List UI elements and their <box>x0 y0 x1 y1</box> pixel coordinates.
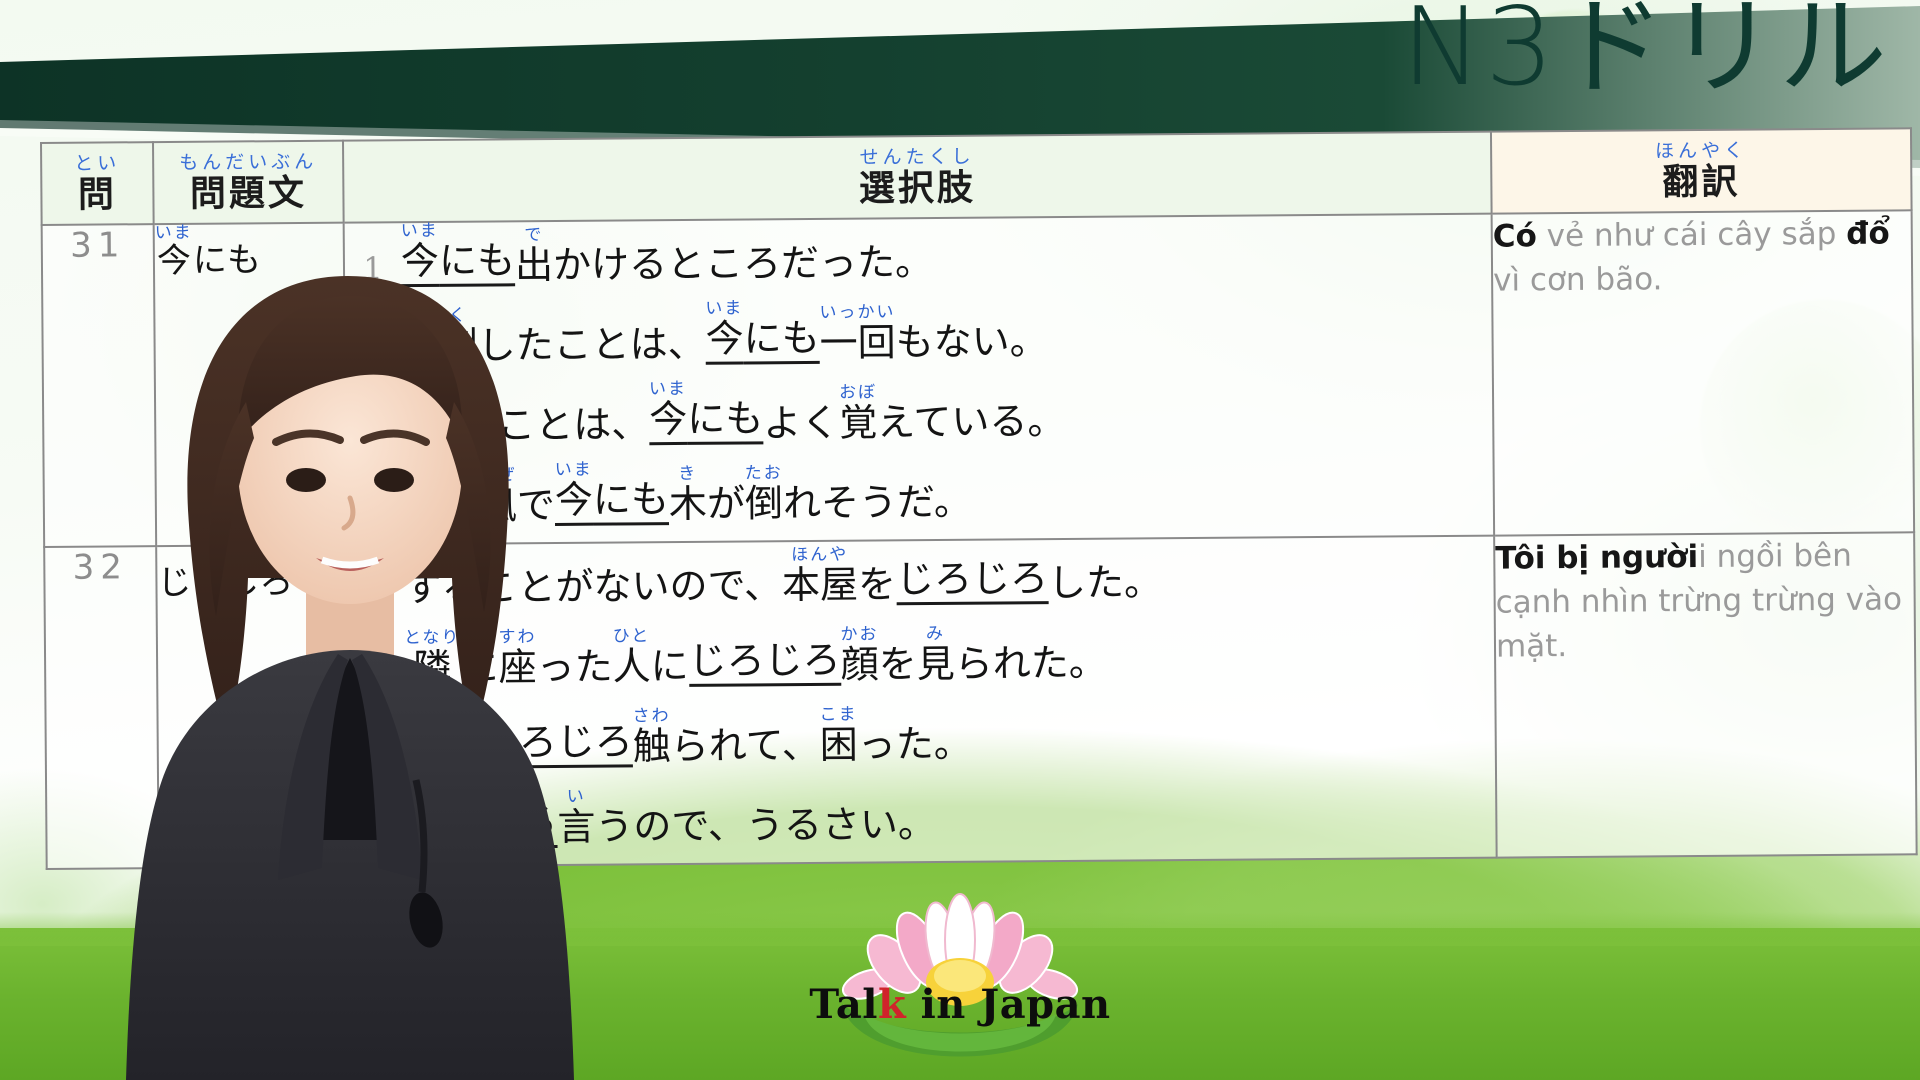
ruby-group: ひと人 <box>612 628 650 687</box>
plain-text-group: よく <box>763 385 839 444</box>
logo-part-accent: k <box>878 981 906 1028</box>
kanji-text: 木 <box>669 484 707 524</box>
ruby-group: かお顔 <box>840 626 878 685</box>
brand-logo-text: Talk in Japan <box>750 981 1170 1028</box>
ruby-group: かぜ風 <box>479 467 517 526</box>
brand-logo: Talk in Japan <box>750 882 1170 1072</box>
plain-text-group: にも <box>193 224 261 279</box>
kanji-text: のことは、 <box>459 405 649 446</box>
plain-text-group: い <box>441 467 479 526</box>
ruby-group: き木 <box>669 465 707 524</box>
plain-text-group: のことは、 <box>459 386 649 446</box>
header-label: 問題文 <box>190 175 307 212</box>
plain-text-group: を <box>442 709 480 768</box>
choice-line: 2となり隣にすわ座ったひと人にじろじろかお顔をみ見られた。 <box>348 616 1494 689</box>
kanji-text: 遅刻 <box>401 326 477 366</box>
header-choices: せんたくし 選択肢 <box>343 132 1492 223</box>
kanji-text: 強 <box>403 487 441 527</box>
choice-number: 3 <box>349 736 405 769</box>
kanji-text: 服 <box>405 729 443 769</box>
kanji-text: 触 <box>633 727 671 767</box>
logo-part-1: Tal <box>809 981 878 1028</box>
ruby-group: ほんや本屋 <box>782 547 858 606</box>
choice-number: 3 <box>346 414 402 447</box>
kanji-text: 今 <box>649 400 687 440</box>
kanji-text: られた。 <box>955 644 1107 685</box>
drill-table: とい 問 もんだいぶん 問題文 せんたくし 選択肢 <box>40 127 1918 869</box>
kana-text: にも <box>193 243 261 279</box>
choice-list-32: 1することがないので、ほんや本屋をじろじろした。2となり隣にすわ座ったひと人にじ… <box>347 537 1495 850</box>
plain-text-group: で <box>517 467 555 526</box>
ruby-group: ふく服 <box>404 710 442 769</box>
drill-table-wrapper: とい 問 もんだいぶん 問題文 せんたくし 選択肢 <box>40 127 1916 869</box>
kanji-text: 本屋 <box>782 566 858 606</box>
plain-text-group: かけるところだった。 <box>553 224 933 286</box>
ruby-group: いっかい一回 <box>819 304 895 363</box>
question-stem: じろじろ <box>156 545 349 868</box>
ruby-group: で出 <box>515 227 553 286</box>
plain-text-group: した。 <box>1048 544 1162 604</box>
ruby-group: い言 <box>557 788 595 847</box>
plain-text-group: った。 <box>858 705 972 765</box>
choice-line: 3むかし昔のことは、いま今にもよくおぼ覚えている。 <box>346 374 1492 447</box>
translation-text: Có vẻ như cái cây sắp đổ vì cơn bão. <box>1493 211 1912 302</box>
kanji-text: もない。 <box>896 322 1048 363</box>
translation-bold-prefix: Có <box>1493 218 1537 254</box>
translation-bold-mid: đổ <box>1846 215 1890 251</box>
question-number: 32 <box>44 546 159 868</box>
ruby-group: み見 <box>916 626 954 685</box>
choice-line: 2ちこく遅刻したことは、いま今にもいっかい一回もない。 <box>345 294 1491 367</box>
plain-text-group: にも <box>687 380 764 444</box>
question-number: 31 <box>42 224 157 547</box>
kanji-text: にも <box>743 319 819 359</box>
choice-number: 2 <box>346 334 402 367</box>
furigana-text: とい <box>74 154 120 173</box>
kanji-text: 出 <box>515 246 553 286</box>
plain-text-group: にも <box>439 222 516 286</box>
kanji-text: い <box>441 486 479 526</box>
kanji-text: った。 <box>858 724 972 765</box>
translation-cell: Có vẻ như cái cây sắp đổ vì cơn bão. <box>1492 210 1915 535</box>
plain-text-group: じろじろ <box>157 546 293 602</box>
kanji-text: 今 <box>555 480 593 520</box>
choice-line: 3ふく服をじろじろさわ触られて、こま困った。 <box>348 696 1494 769</box>
ruby-group: いま今 <box>649 381 688 445</box>
translation-body: vẻ như cái cây sắp <box>1537 216 1847 254</box>
plain-text-group: られて、 <box>671 707 820 767</box>
kanji-text: うので、うるさい。 <box>595 805 936 848</box>
plain-text-group: った <box>536 628 612 687</box>
kanji-text: 今 <box>401 242 439 282</box>
video-frame: N3ドリル とい 問 もんだいぶん 問題文 <box>0 0 1920 1080</box>
kanji-text: に <box>651 647 689 687</box>
kanji-text: 今 <box>157 244 191 280</box>
ruby-group: さわ触 <box>633 708 671 767</box>
header-translation: ほんやく 翻訳 <box>1491 128 1912 213</box>
furigana-text: ほんやく <box>1655 142 1747 162</box>
furigana-text: せんたくし <box>860 148 975 168</box>
ruby-group: いま今 <box>705 300 744 364</box>
kanji-text: った <box>537 647 613 687</box>
kanji-text: する <box>403 569 479 609</box>
kanji-text: にも <box>439 241 515 281</box>
header-question-number: とい 問 <box>41 142 154 225</box>
kanji-text: が <box>707 484 745 524</box>
plain-text-group: に <box>460 629 498 688</box>
kanji-text: を <box>879 645 917 685</box>
kanji-text: えている。 <box>877 402 1065 443</box>
kanji-text: 困 <box>820 725 858 765</box>
kanji-text: られて、 <box>671 726 820 767</box>
ruby-group: おぼ覚 <box>839 384 877 443</box>
plain-text-group: うので、うるさい。 <box>595 786 936 848</box>
choice-number: 4 <box>347 494 403 527</box>
kanji-text: にも <box>687 399 763 439</box>
kanji-text: じろじろ <box>896 559 1048 600</box>
plain-text-group: じろじろ <box>688 622 841 687</box>
kanji-text: れそうだ。 <box>783 482 972 523</box>
kanji-text: したことは、 <box>477 325 705 367</box>
choice-number: 4 <box>349 816 405 849</box>
plain-text-group: したことは、 <box>477 306 705 367</box>
kanji-text: かけるところだった。 <box>553 243 933 286</box>
kanji-text: 風 <box>479 486 517 526</box>
ruby-group: となり隣 <box>404 630 461 689</box>
table-header-row: とい 問 もんだいぶん 問題文 せんたくし 選択肢 <box>41 128 1912 225</box>
kanji-text: 昔 <box>412 407 450 447</box>
kanji-text: にも <box>593 480 669 520</box>
translation-text: Tôi bị ngườii ngồi bên cạnh nhìn trừng t… <box>1495 533 1914 668</box>
translation-bold-prefix: Tôi bị người <box>1495 539 1698 577</box>
choice-number: 2 <box>348 656 404 689</box>
plain-text-group: に <box>650 628 688 687</box>
plain-text-group: にも <box>743 300 820 364</box>
page-title: N3ドリル <box>1401 0 1890 102</box>
header-question-text: もんだいぶん 問題文 <box>153 141 344 224</box>
kanji-text: よく <box>763 404 839 444</box>
plain-text-group: じろじろ <box>896 540 1049 605</box>
plain-text-group: にも <box>593 461 670 525</box>
kanji-text: 今 <box>705 319 743 359</box>
ruby-group: いま今 <box>401 223 440 287</box>
ruby-group: こま困 <box>819 706 857 765</box>
plain-text-group: もない。 <box>895 303 1047 363</box>
ruby-group: つよ強 <box>403 468 441 527</box>
choice-line: 1いま今にもで出かけるところだった。 <box>345 215 1491 288</box>
kanji-text: 倒 <box>745 484 783 524</box>
kanji-text: 覚 <box>839 403 877 443</box>
kanji-text: じろじろ <box>405 803 557 844</box>
kanji-text: 座 <box>499 648 537 688</box>
furigana-text: もんだいぶん <box>179 153 317 173</box>
logo-part-3: in Japan <box>906 981 1110 1028</box>
ruby-group: ちこく遅刻 <box>401 307 477 366</box>
kanji-text: 言 <box>557 807 595 847</box>
choices-cell: 1いま今にもで出かけるところだった。2ちこく遅刻したことは、いま今にもいっかい一… <box>344 214 1494 545</box>
plain-text-group: れそうだ。 <box>783 463 972 523</box>
kanji-text: 顔 <box>841 645 879 685</box>
plain-text-group: じろじろ <box>405 784 558 849</box>
plain-text-group: ことがないので、 <box>479 547 782 608</box>
choice-line: 1することがないので、ほんや本屋をじろじろした。 <box>347 537 1493 610</box>
choice-line: 4じろじろい言うので、うるさい。 <box>349 776 1495 849</box>
choices-cell: 1することがないので、ほんや本屋をじろじろした。2となり隣にすわ座ったひと人にじ… <box>346 536 1496 867</box>
plain-text-group: じろじろ <box>480 703 633 768</box>
header-label: 翻訳 <box>1662 164 1740 201</box>
ruby-group: むかし昔 <box>402 387 459 446</box>
plain-text-group: を <box>858 546 896 605</box>
plain-text-group: られた。 <box>954 625 1106 685</box>
kanji-text: 見 <box>917 645 955 685</box>
question-stem: いま 今 にも <box>154 223 347 546</box>
kanji-text: じろじろ <box>689 641 841 682</box>
table-row: 31 いま 今 にも <box>42 210 1914 547</box>
kanji-text: した。 <box>1048 563 1162 604</box>
translation-tail: vì cơn bão. <box>1493 261 1663 298</box>
kana-text: じろじろ <box>157 565 293 602</box>
kanji-text: で <box>517 486 555 526</box>
kanji-text: じろじろ <box>481 722 633 763</box>
ruby-group: たお倒 <box>745 465 783 524</box>
plain-text-group: する <box>403 550 479 609</box>
kanji-text: 隣 <box>413 649 451 689</box>
table-row: 32 じろじろ 1することがないので、ほんや本屋をじろじろした。2となり隣にすわ… <box>44 532 1916 868</box>
lotus-flower-icon <box>839 894 1080 1057</box>
kanji-text: を <box>443 728 481 768</box>
plain-text-group: を <box>878 626 916 685</box>
ruby-group: いま 今 <box>155 225 193 280</box>
choice-number: 1 <box>345 254 401 287</box>
header-label: 選択肢 <box>859 170 976 207</box>
plain-text-group: が <box>707 465 745 524</box>
kanji-text: に <box>460 648 498 688</box>
plain-text-group: えている。 <box>877 383 1066 443</box>
ruby-group: すわ座 <box>498 629 536 688</box>
translation-cell: Tôi bị ngườii ngồi bên cạnh nhìn trừng t… <box>1494 532 1917 857</box>
choice-number: 1 <box>347 576 403 609</box>
ruby-group: いま今 <box>555 461 594 525</box>
header-label: 問 <box>78 176 117 212</box>
kanji-text: 一回 <box>820 323 896 363</box>
kanji-text: ことがないので、 <box>479 566 782 608</box>
kanji-text: を <box>858 565 896 605</box>
choice-line: 4つよ強いかぜ風でいま今にもき木がたお倒れそうだ。 <box>347 454 1493 527</box>
choice-list-31: 1いま今にもで出かけるところだった。2ちこく遅刻したことは、いま今にもいっかい一… <box>345 215 1493 528</box>
kanji-text: 人 <box>613 647 651 687</box>
